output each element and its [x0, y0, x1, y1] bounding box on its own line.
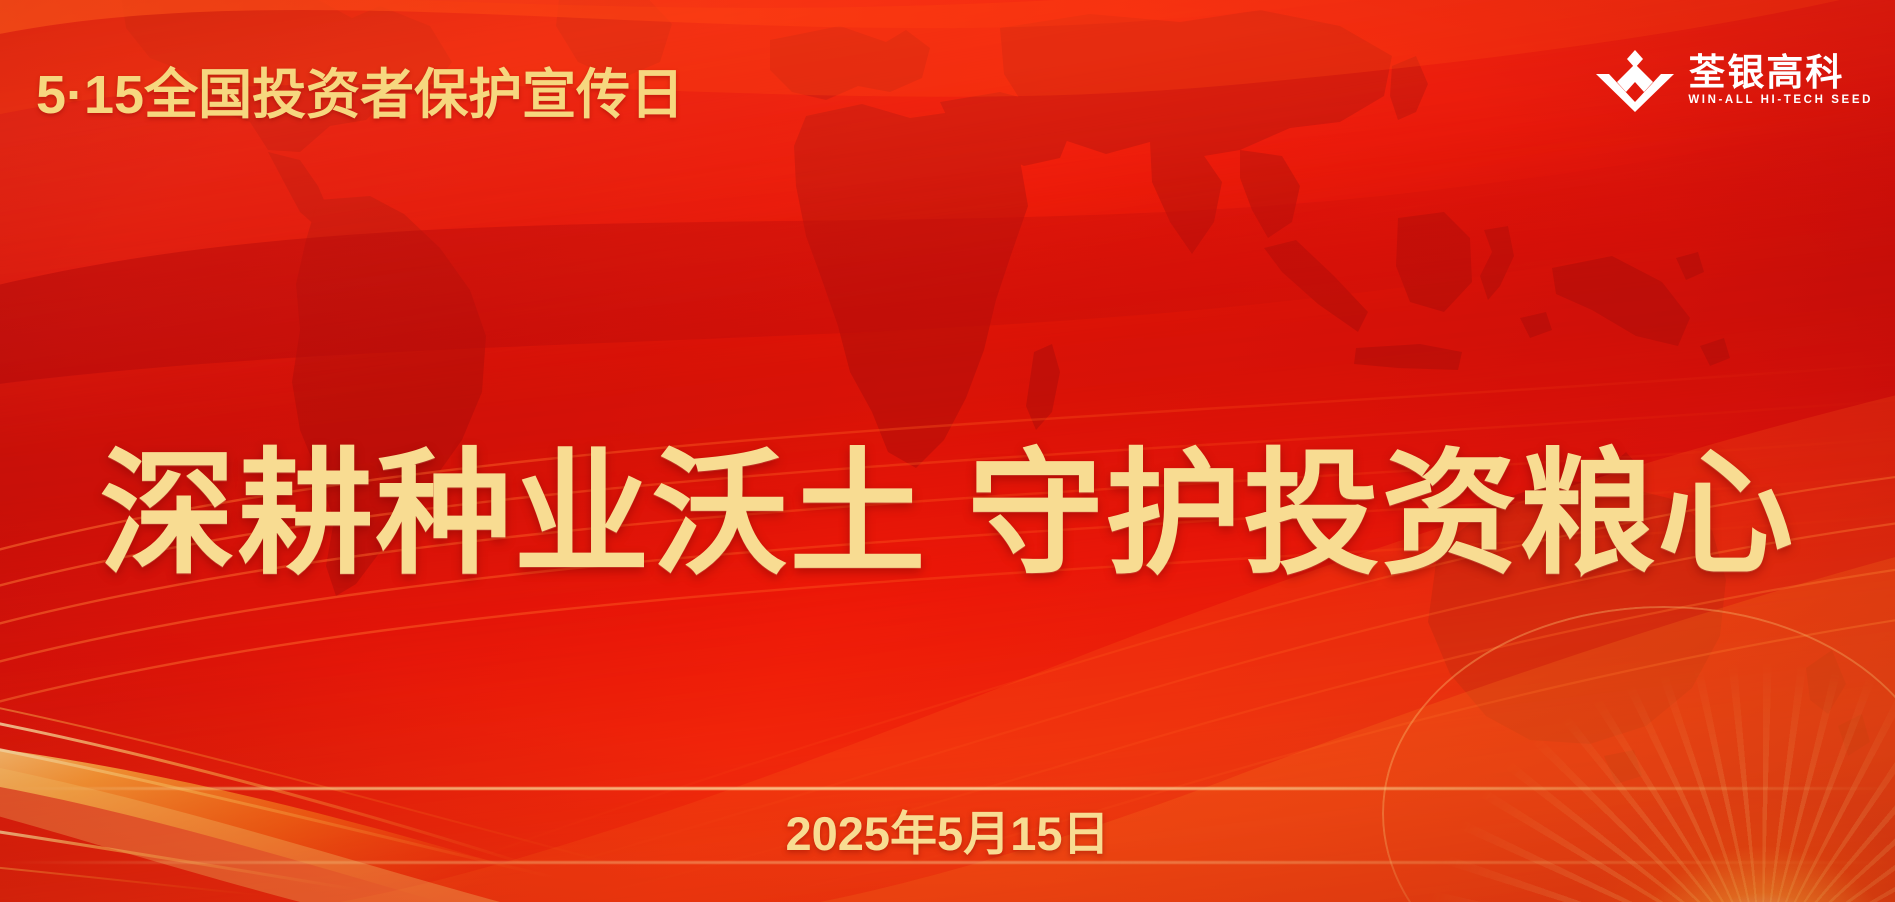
- brand-logo: 荃银高科 WIN-ALL HI-TECH SEED: [1596, 48, 1873, 112]
- chevron-logo-icon: [1596, 48, 1674, 112]
- brand-name-cn: 荃银高科: [1688, 54, 1844, 93]
- event-label: 5·15全国投资者保护宣传日: [36, 50, 684, 129]
- brand-name-en: WIN-ALL HI-TECH SEED: [1688, 94, 1873, 107]
- investor-protection-banner: 5·15全国投资者保护宣传日 深耕种业沃土 守护投资粮心 2025年5月15日 …: [0, 0, 1895, 902]
- banner-content: 5·15全国投资者保护宣传日 深耕种业沃土 守护投资粮心 2025年5月15日 …: [0, 0, 1895, 902]
- brand-text: 荃银高科 WIN-ALL HI-TECH SEED: [1688, 54, 1873, 107]
- page-title: 深耕种业沃土 守护投资粮心: [0, 404, 1895, 601]
- event-date: 2025年5月15日: [0, 795, 1895, 864]
